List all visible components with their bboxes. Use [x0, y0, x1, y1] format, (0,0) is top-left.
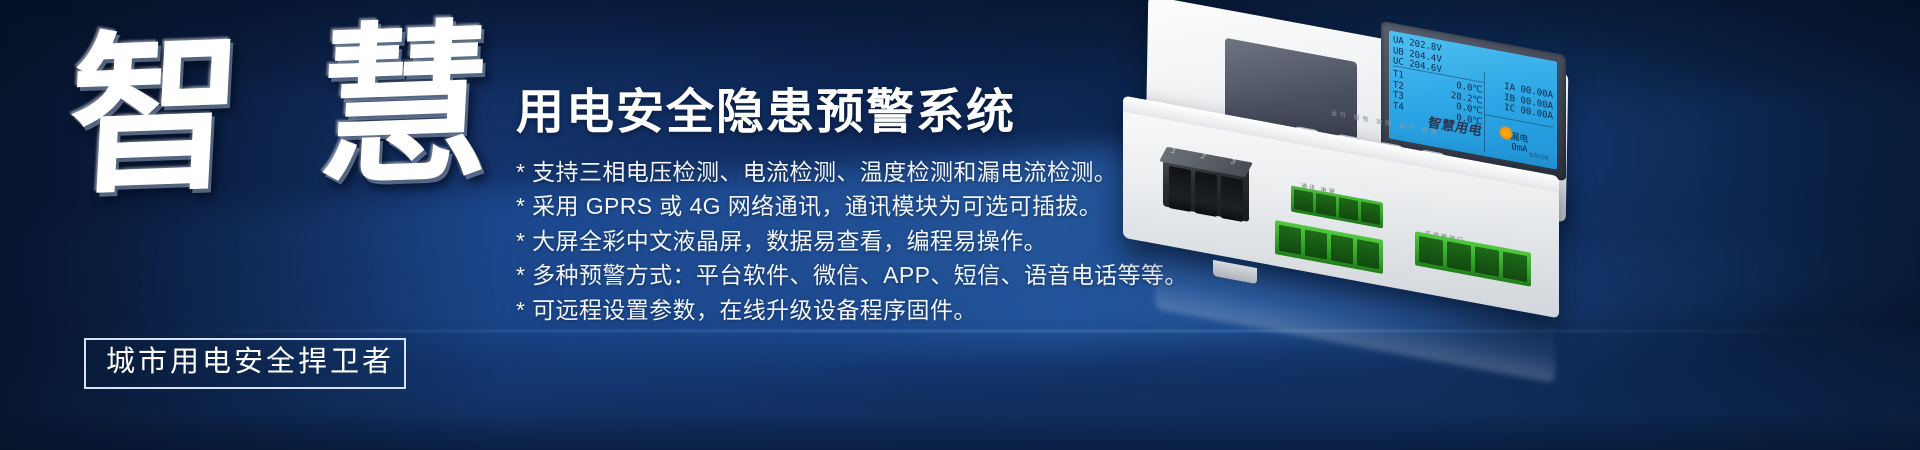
copy-block: 用电安全隐患预警系统 * 支持三相电压检测、电流检测、温度检测和漏电流检测。 *… [516, 86, 1176, 330]
terminal-port [1357, 239, 1379, 269]
device-connector-pin [1195, 171, 1217, 217]
terminal-port [1331, 234, 1353, 264]
feature-list: * 支持三相电压检测、电流检测、温度检测和漏电流检测。 * 采用 GPRS 或 … [516, 158, 1176, 325]
terminal-port [1279, 225, 1301, 255]
terminal-port [1294, 189, 1313, 213]
lcd-logo: 智慧用电 [1529, 153, 1549, 163]
terminal-port [1316, 193, 1335, 217]
device-body: UA 202.8V UB 204.4V UC 204.6V T1 0.0℃ T2 [1095, 8, 1595, 308]
promo-banner: 智 慧 城市用电安全捍卫者 用电安全隐患预警系统 * 支持三相电压检测、电流检测… [0, 0, 1920, 450]
feature-item: * 可远程设置参数，在线升级设备程序固件。 [516, 296, 1176, 325]
feature-item: * 采用 GPRS 或 4G 网络通讯，通讯模块为可选可插拔。 [516, 192, 1176, 221]
terminal-port [1305, 230, 1327, 260]
tagline-text: 城市用电安全捍卫者 [106, 347, 384, 378]
calligraphy-title: 智 慧 [65, 17, 503, 204]
terminal-port [1475, 246, 1499, 276]
feature-item: * 大屏全彩中文液晶屏，数据易查看，编程易操作。 [516, 227, 1176, 256]
page-title: 用电安全隐患预警系统 [516, 86, 1176, 140]
lcd-temp-label-t4: T4 [1393, 101, 1404, 114]
terminal-port [1447, 241, 1471, 271]
feature-item: * 支持三相电压检测、电流检测、温度检测和漏电流检测。 [516, 158, 1176, 187]
device-connector-pin [1221, 176, 1243, 222]
device-connector-pin [1169, 166, 1191, 212]
terminal-port [1361, 201, 1380, 225]
feature-item: * 多种预警方式：平台软件、微信、APP、短信、语音电话等等。 [516, 261, 1176, 290]
terminal-port [1419, 236, 1443, 266]
terminal-port [1339, 197, 1358, 221]
left-title-block: 智 慧 城市用电安全捍卫者 [62, 18, 482, 388]
product-image: UA 202.8V UB 204.4V UC 204.6V T1 0.0℃ T2 [1095, 8, 1615, 348]
terminal-port [1503, 252, 1527, 282]
tagline-box: 城市用电安全捍卫者 [84, 338, 406, 389]
